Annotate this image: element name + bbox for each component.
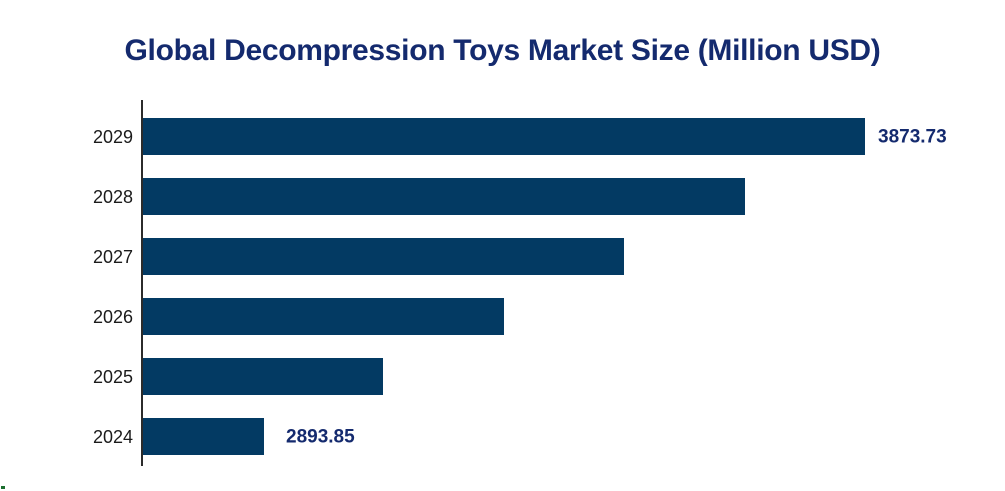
y-axis-tick-2028: 2028 xyxy=(33,188,133,206)
bar-value-2029: 3873.73 xyxy=(878,127,947,146)
table-row: 2028 xyxy=(0,178,1005,215)
table-row: 2027 xyxy=(0,238,1005,275)
table-row: 2025 xyxy=(0,358,1005,395)
corner-artifact xyxy=(1,486,5,489)
bar-value-2024: 2893.85 xyxy=(286,427,355,446)
table-row: 2026 xyxy=(0,298,1005,335)
bar-2029[interactable] xyxy=(143,118,865,155)
plot-area: 2029 3873.73 2028 2027 2026 2025 xyxy=(0,0,1005,491)
y-axis-tick-2024: 2024 xyxy=(33,428,133,446)
bar-2028[interactable] xyxy=(143,178,745,215)
bar-2025[interactable] xyxy=(143,358,383,395)
y-axis-tick-2029: 2029 xyxy=(33,128,133,146)
y-axis-tick-2025: 2025 xyxy=(33,368,133,386)
bar-2026[interactable] xyxy=(143,298,504,335)
bar-2024[interactable] xyxy=(143,418,264,455)
y-axis-tick-2026: 2026 xyxy=(33,308,133,326)
chart-page: Global Decompression Toys Market Size (M… xyxy=(0,0,1005,491)
y-axis-tick-2027: 2027 xyxy=(33,248,133,266)
table-row: 2029 3873.73 xyxy=(0,118,1005,155)
bar-2027[interactable] xyxy=(143,238,624,275)
table-row: 2024 2893.85 xyxy=(0,418,1005,455)
